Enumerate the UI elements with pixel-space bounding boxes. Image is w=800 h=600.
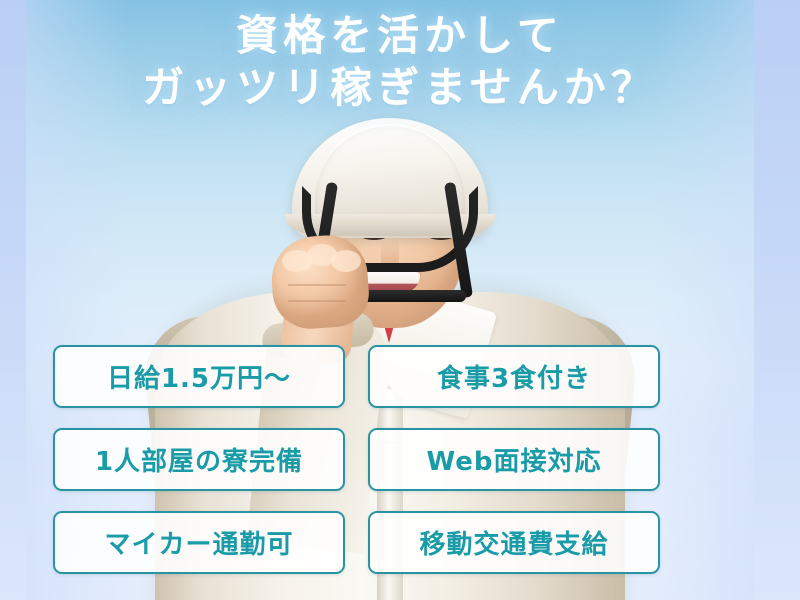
finger-crease (288, 284, 346, 286)
neck (347, 250, 433, 320)
hair-right (425, 174, 470, 269)
clenched-fist (269, 233, 371, 331)
benefit-badge-travel-expenses[interactable]: 移動交通費支給 (368, 511, 660, 574)
chin-strap-left (309, 182, 338, 298)
hard-hat (292, 118, 488, 238)
benefit-badge-car-commute[interactable]: マイカー通勤可 (53, 511, 345, 574)
smiling-mouth (360, 272, 420, 292)
benefit-badge-daily-wage[interactable]: 日給1.5万円〜 (53, 345, 345, 408)
benefit-badge-label: 移動交通費支給 (419, 524, 608, 561)
hair-left (311, 174, 356, 269)
benefit-badge-grid: 日給1.5万円〜 食事3食付き 1人部屋の寮完備 Web面接対応 マイカー通勤可… (53, 345, 660, 574)
hard-hat-ridge (315, 124, 465, 220)
knuckle (331, 250, 361, 272)
chin-strap-band (314, 290, 466, 302)
chin-strap-right (444, 182, 473, 298)
canvas-strip-left (0, 0, 26, 600)
knuckle (282, 250, 312, 272)
benefit-badge-label: 日給1.5万円〜 (107, 358, 291, 395)
benefit-badge-label: 1人部屋の寮完備 (95, 441, 303, 478)
nose (381, 240, 399, 270)
hard-hat-brim (285, 214, 495, 236)
chin-strap-arc (302, 186, 478, 272)
eye-right (426, 228, 456, 240)
ear-left (310, 210, 330, 244)
eyebrow-right (424, 210, 461, 221)
knuckle (307, 244, 337, 266)
benefit-badge-label: 食事3食付き (437, 358, 591, 395)
benefit-badge-web-interview[interactable]: Web面接対応 (368, 428, 660, 491)
eye-left (359, 228, 389, 240)
benefit-badge-label: マイカー通勤可 (104, 524, 293, 561)
benefit-badge-private-dorm[interactable]: 1人部屋の寮完備 (53, 428, 345, 491)
canvas-strip-right (754, 0, 800, 600)
eyebrow-left (356, 210, 393, 221)
finger-crease (288, 300, 346, 302)
chin-strap-buckle (306, 252, 332, 282)
benefit-badge-meals[interactable]: 食事3食付き (368, 345, 660, 408)
ear-right (450, 210, 470, 244)
benefit-badge-label: Web面接対応 (427, 441, 602, 478)
face (315, 148, 465, 328)
recruitment-poster: 資格を活かして ガッツリ稼ぎませんか？ 日給1.5万円〜 食事3食付き 1人部屋… (0, 0, 800, 600)
necktie-knot (375, 296, 405, 322)
